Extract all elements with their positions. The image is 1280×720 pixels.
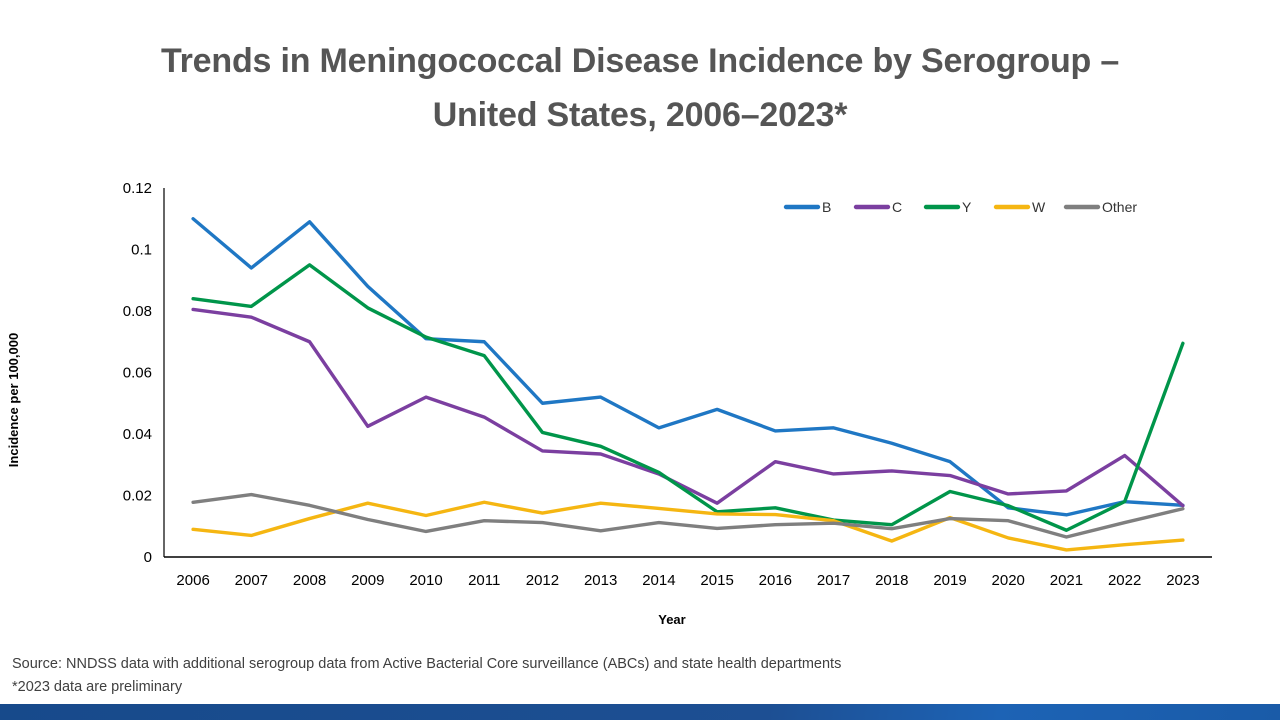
y-axis-tick-labels: 00.020.040.060.080.10.12 [123,180,152,566]
x-tick-label: 2006 [176,572,209,589]
x-axis-tick-labels: 2006200720082009201020112012201320142015… [176,572,1199,589]
series-line-Y [193,265,1183,530]
slide-canvas: Trends in Meningococcal Disease Incidenc… [0,0,1280,720]
x-tick-label: 2016 [759,572,792,589]
y-tick-label: 0.04 [123,426,152,443]
x-axis-title: Year [658,612,685,627]
x-tick-label: 2014 [642,572,675,589]
bottom-accent-bar [0,704,1280,720]
x-tick-label: 2015 [700,572,733,589]
x-tick-label: 2017 [817,572,850,589]
series-line-B [193,219,1183,515]
y-tick-label: 0.1 [131,242,152,259]
legend-label-Y[interactable]: Y [962,199,972,215]
title-line-2: United States, 2006–2023* [70,88,1210,142]
x-tick-label: 2007 [235,572,268,589]
y-tick-label: 0 [144,549,152,566]
footer-notes: Source: NNDSS data with additional serog… [12,653,1212,698]
series-line-C [193,309,1183,505]
legend-label-Other[interactable]: Other [1102,199,1137,215]
chart-series-lines [193,219,1183,550]
x-tick-label: 2013 [584,572,617,589]
y-tick-label: 0.12 [123,180,152,197]
line-chart: 00.020.040.060.080.10.12 200620072008200… [0,160,1280,640]
y-axis-title: Incidence per 100,000 [6,333,21,467]
x-tick-label: 2018 [875,572,908,589]
x-tick-label: 2021 [1050,572,1083,589]
legend-label-W[interactable]: W [1032,199,1046,215]
chart-axes [164,188,1212,557]
legend-label-B[interactable]: B [822,199,831,215]
x-tick-label: 2022 [1108,572,1141,589]
x-tick-label: 2023 [1166,572,1199,589]
x-tick-label: 2012 [526,572,559,589]
footer-note: *2023 data are preliminary [12,676,1212,698]
chart-svg: 00.020.040.060.080.10.12 200620072008200… [0,160,1280,640]
title-line-1: Trends in Meningococcal Disease Incidenc… [70,34,1210,88]
x-tick-label: 2011 [468,572,500,589]
x-tick-label: 2020 [992,572,1025,589]
footer-source: Source: NNDSS data with additional serog… [12,653,1212,675]
x-tick-label: 2019 [933,572,966,589]
x-tick-label: 2008 [293,572,326,589]
y-tick-label: 0.08 [123,303,152,320]
page-title: Trends in Meningococcal Disease Incidenc… [70,34,1210,143]
x-tick-label: 2010 [409,572,442,589]
x-tick-label: 2009 [351,572,384,589]
y-tick-label: 0.02 [123,488,152,505]
legend-label-C[interactable]: C [892,199,902,215]
chart-legend: BCYWOther [786,199,1137,215]
y-tick-label: 0.06 [123,365,152,382]
